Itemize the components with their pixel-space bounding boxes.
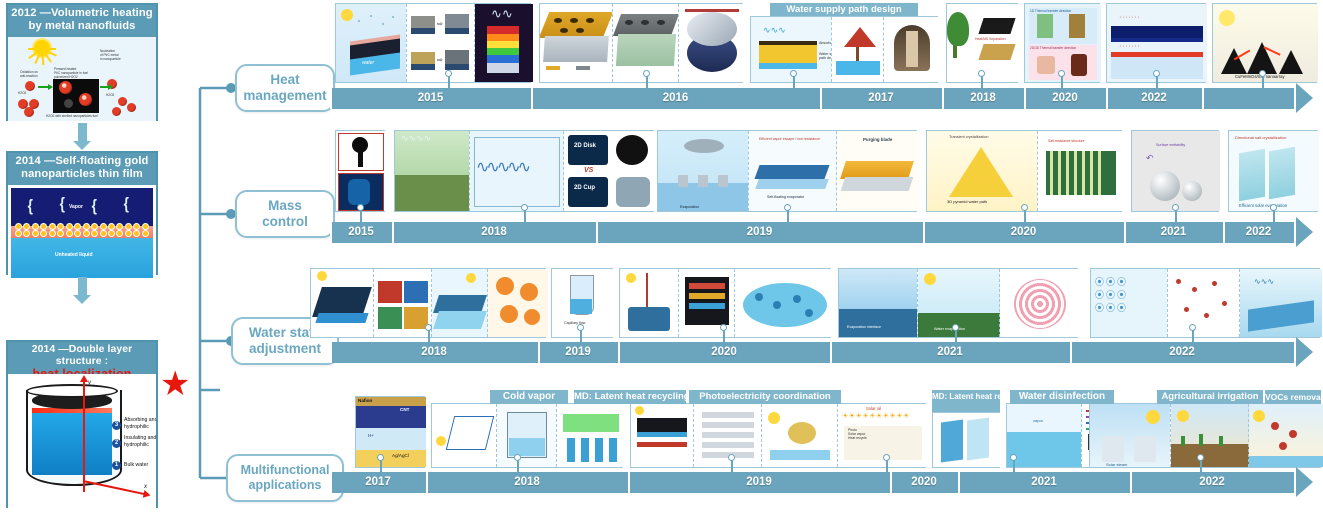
timeline-knob [377, 454, 384, 461]
timeline-year-label: 2020 [1024, 88, 1106, 109]
thumb-image[interactable] [556, 404, 625, 467]
thumb-image[interactable] [883, 17, 940, 82]
row-label-heat-management-line1: Heat [243, 72, 326, 88]
thumb-image[interactable]: Salt-resistance structure [1037, 131, 1124, 211]
thumb-label-3d-path: 3D pyramid water path [947, 199, 987, 204]
milestone-1-label-right: Nucleationof Pt/C metalin nanoparticle [100, 49, 121, 61]
thumb-label-vs: VS [584, 167, 593, 174]
timeline-stem [1273, 210, 1275, 222]
thumb-image[interactable] [540, 4, 612, 82]
timeline-stem [731, 460, 733, 472]
callout-water-disinfection: Water disinfection [1010, 390, 1114, 404]
timeline-year-label: 2019 [596, 222, 923, 243]
thumb-group-2022-mass[interactable]: Directional salt crystallization Efficie… [1228, 130, 1318, 212]
thumb-image[interactable]: vapor [1007, 404, 1081, 467]
connector-arrow-1 [78, 123, 87, 142]
timeline-knob [1259, 70, 1266, 77]
timeline-stem [517, 460, 519, 472]
row-label-multifunctional-line2: applications [241, 478, 330, 493]
wave-curve: ∿∿∿∿∿ [476, 157, 528, 177]
thumb-caption: 1D Thermal transfer direction [1030, 9, 1071, 13]
beaker-diagram: y x [26, 384, 118, 488]
callout-water-supply-path-design: Water supply path design [770, 3, 918, 16]
row-label-water-state-line2: adjustment [249, 341, 321, 357]
callout-vocs-removal: VOCs removal [1265, 390, 1321, 404]
timeline-year-label: 2022 [1130, 472, 1294, 493]
thumb-group-2018-multi[interactable] [431, 403, 623, 468]
timeline-year-label: 2020 [618, 342, 830, 363]
timeline-knob [952, 324, 959, 331]
thumb-image[interactable]: Purging blade [836, 131, 919, 211]
thumb-image[interactable] [1170, 404, 1249, 467]
timeline-knob [1270, 204, 1277, 211]
timeline-stem [787, 210, 789, 222]
timeline-knob [425, 324, 432, 331]
thumb-arrow: ⇨ [437, 56, 443, 64]
thumb-caption: Salt-resistance structure [1048, 139, 1085, 143]
timeline-year-label: 2016 [531, 88, 820, 109]
sun-row-icons: ☀☀☀☀☀☀☀☀☀☀ [842, 412, 910, 420]
timeline-year-label: 2022 [1223, 222, 1294, 243]
timeline-stem [886, 460, 888, 472]
thumb-group-2017-heat[interactable]: ∿∿∿ Absorber Water supplypath design [750, 16, 938, 83]
thumb-image[interactable]: ∿∿∿∿ [395, 131, 469, 211]
thumb-group-2021-mass[interactable]: Surface wettability ↶ [1131, 130, 1219, 212]
row-label-mass-control[interactable]: Mass control [235, 190, 335, 238]
thumb-caption: Evaporation [680, 205, 699, 209]
thumb-caption: Purging blade [863, 137, 892, 142]
thumb-group-2015-mass[interactable] [335, 130, 385, 212]
marker-1: 1 [112, 461, 121, 470]
thumb-label-solar-steam: Solar steam [1106, 462, 1127, 467]
thumb-image[interactable]: Directional salt crystallization Efficie… [1229, 131, 1319, 211]
timeline-stem [955, 330, 957, 342]
timeline-stem [524, 210, 526, 222]
milestone-1-figure: Nucleationof Pt/C metalin nanoparticle O… [8, 37, 156, 121]
timeline-mass-control[interactable]: 2015 2018 2019 2020 2021 2022 [330, 222, 1323, 243]
row-label-heat-management-line2: management [243, 88, 326, 104]
timeline-year-label: 2020 [890, 472, 958, 493]
thumb-group-2015-heat[interactable]: water ⇨ ⇨ ∿∿ [335, 3, 531, 83]
thumb-group-2017-multi[interactable]: Nafion CNT H+ Ag/AgCl [355, 396, 425, 468]
timeline-knob [1189, 324, 1196, 331]
thumb-image[interactable] [336, 131, 386, 211]
milestone-1-label-h2o2-b: H2O2 [106, 93, 114, 97]
thumb-caption: Transient crystallization [949, 135, 989, 139]
milestone-1-label-left: Oxidation onanti-reaction [20, 70, 38, 78]
timeline-stem [1262, 76, 1264, 88]
timeline-year-label: 2020 [923, 222, 1124, 243]
milestone-card-2014-double-layer-heat-localization: 2014 —Double layer structure : heat loca… [6, 340, 158, 508]
thumb-label-salt-cryst: Directional salt crystallization [1235, 135, 1286, 140]
vapor-plume: ∿∿ [491, 6, 513, 22]
timeline-stem [1013, 460, 1015, 472]
timeline-knob [1172, 204, 1179, 211]
thumb-arrow: ⇨ [437, 20, 443, 28]
thumb-image[interactable]: ⇨ ⇨ [406, 4, 475, 82]
timeline-year-label: 2019 [538, 342, 618, 363]
timeline-knob [1153, 70, 1160, 77]
timeline-stem [580, 330, 582, 342]
thumb-image[interactable]: CuFeMnO4/SiC nanoarray [1213, 4, 1318, 82]
thumb-caption: Water evaporation [934, 327, 965, 331]
timeline-knob [720, 324, 727, 331]
vapor-label: vapor [1033, 418, 1043, 423]
timeline-knob [643, 70, 650, 77]
thumb-image[interactable] [1167, 269, 1240, 337]
timeline-water-state-adjustment[interactable]: 2018 2019 2020 2021 2022 [330, 342, 1323, 363]
water-molecules: ⦿⦿⦿⦿⦿⦿⦿⦿⦿ [1095, 275, 1128, 314]
milestone-2-title-line2: nanoparticles thin film [8, 168, 156, 181]
row-label-multifunctional-line1: Multifunctional [241, 463, 330, 478]
timeline-year-label: 2022 [1070, 342, 1294, 363]
milestone-3-item-1-label: Bulk water [124, 462, 148, 469]
timeline-knob [883, 454, 890, 461]
thumb-group-2020-mass[interactable]: Transient crystallization 3D pyramid wat… [926, 130, 1122, 212]
timeline-knob [978, 70, 985, 77]
thumb-image[interactable] [620, 269, 678, 337]
row-label-multifunctional-applications[interactable]: Multifunctional applications [226, 454, 344, 502]
timeline-year-label: 2022 [1106, 88, 1202, 109]
thumb-image[interactable]: Surface wettability ↶ [1132, 131, 1220, 211]
vapor-swirl-icon: { [92, 196, 97, 216]
thumb-caption: Efficient vapor escape / low resistance [759, 137, 820, 141]
timeline-stem [793, 76, 795, 88]
milestone-2-figure: { { { { Vapor Unheated liquid [8, 185, 156, 281]
milestone-3-title-line1: 2014 —Double layer structure : [8, 344, 156, 367]
vapor-arrows: ∿∿∿ [1254, 277, 1274, 286]
thumb-image[interactable]: Nafion CNT H+ Ag/AgCl [356, 397, 426, 467]
thumb-group-2016-heat[interactable] [539, 3, 743, 83]
milestone-card-1-header: 2012 —Volumetric heating by metal nanofl… [8, 5, 156, 37]
timeline-stem [646, 76, 648, 88]
timeline-knob [728, 454, 735, 461]
milestone-1-title-line2: by metal nanofluids [8, 20, 156, 33]
timeline-stem [981, 76, 983, 88]
milestone-3-item-3-label: Absorbing andhydrophilic [124, 417, 156, 430]
milestone-card-2012-volumetric-heating: 2012 —Volumetric heating by metal nanofl… [6, 3, 158, 121]
vapor-arrows: ∿∿∿∿ [401, 133, 431, 144]
thumb-label-water: water [362, 60, 374, 66]
timeline-year-label: 2018 [426, 472, 628, 493]
timeline-knob [1021, 204, 1028, 211]
callout-md-latent-heat-recycling: MD: Latent heat recycling [574, 390, 686, 404]
thumb-group-2022-water[interactable]: ⦿⦿⦿⦿⦿⦿⦿⦿⦿ ∿∿∿ [1090, 268, 1320, 338]
vapor-swirl-icon: { [60, 194, 65, 214]
thumb-label-solar-oil: Solar oil [866, 406, 881, 411]
thumb-caption: Surface wettability [1156, 143, 1185, 147]
timeline-heat-management[interactable]: 2015 2016 2017 2018 2020 2022 [330, 88, 1323, 109]
timeline-year-label: 2017 [330, 472, 426, 493]
thumb-image[interactable] [487, 269, 548, 337]
milestone-3-axis-y-label: y [88, 380, 91, 386]
timeline-knob [521, 204, 528, 211]
timeline-knob [784, 204, 791, 211]
thumb-image[interactable]: Solar steam [1090, 404, 1170, 467]
thumb-image[interactable]: water [336, 4, 406, 82]
thumb-image[interactable] [999, 269, 1080, 337]
timeline-knob [577, 324, 584, 331]
thumb-caption: ↓ ↓ ↓ ↓ ↓ ↓ ↓ [1119, 14, 1140, 19]
row-label-mass-control-line1: Mass [262, 198, 308, 214]
thumb-image[interactable]: ⦿⦿⦿⦿⦿⦿⦿⦿⦿ [1091, 269, 1167, 337]
timeline-stem [1156, 76, 1158, 88]
thumb-image[interactable] [933, 413, 1001, 467]
milestone-3-axis-x-label: x [144, 484, 147, 490]
timeline-knob [357, 204, 364, 211]
milestone-card-2014-gold-nanoparticle-film: 2014 —Self-floating gold nanoparticles t… [6, 151, 158, 275]
timeline-knob [445, 70, 452, 77]
thumb-image[interactable]: ∿∿ [474, 4, 533, 82]
milestone-2-label-vapor: Vapor [69, 204, 83, 210]
timeline-year-label: 2017 [820, 88, 942, 109]
thumb-image[interactable] [631, 404, 693, 467]
thumb-image[interactable] [373, 269, 432, 337]
thumb-group-2020-multi[interactable] [932, 412, 1000, 468]
timeline-knob [1058, 70, 1065, 77]
milestone-3-item-2-label: Insulating andhydrophilic [124, 435, 156, 448]
timeline-stem [428, 330, 430, 342]
thumb-image[interactable]: Evaporation interface [839, 269, 917, 337]
milestone-card-2-header: 2014 —Self-floating gold nanoparticles t… [8, 153, 156, 185]
vapor-swirl-icon: { [124, 194, 129, 214]
timeline-year-label: 2021 [1124, 222, 1223, 243]
thumb-image[interactable]: Evaporation [658, 131, 748, 211]
thumb-label-efficient-evap: Efficient solar evaporation [1239, 203, 1287, 208]
thumb-label-2d-cup: 2D Cup [574, 185, 595, 191]
thumb-caption: ↓ ↓ ↓ ↓ ↓ ↓ ↓ [1119, 43, 1140, 48]
timeline-year-label: 2021 [830, 342, 1070, 363]
thumb-label-agagcl: Ag/AgCl [392, 453, 409, 458]
marker-2: 2 [112, 439, 121, 448]
thumb-image[interactable] [761, 404, 838, 467]
vapor-swirl-icon: { [28, 196, 33, 216]
thumb-caption: Absorber [819, 41, 831, 45]
thumb-image[interactable]: Transient crystallization 3D pyramid wat… [927, 131, 1037, 211]
thumb-caption: 2D/3D Thermal transfer direction [1030, 46, 1076, 50]
thumb-image[interactable] [431, 269, 488, 337]
thumb-label-nafion: Nafion [358, 398, 372, 403]
callout-photoelectricity-coordination: Photoelectricity coordination [689, 390, 841, 404]
timeline-year-label: 2015 [330, 222, 392, 243]
callout-md-latent-heat-recycling-2020: MD: Latent heat recycling [932, 390, 1000, 412]
marker-3: 3 [112, 421, 121, 430]
timeline-knob [514, 454, 521, 461]
milestone-3-figure: y x 3 Absorbing andhydrophilic 2 Insulat… [8, 374, 156, 508]
thumb-image[interactable]: ∿∿∿∿∿ [469, 131, 564, 211]
thumb-image[interactable] [678, 4, 745, 82]
timeline-stem [1192, 330, 1194, 342]
thumb-caption: Heat/MS Separation [975, 37, 1006, 41]
thumb-image[interactable] [311, 269, 373, 337]
timeline-year-label: 2019 [628, 472, 890, 493]
timeline-stem [448, 76, 450, 88]
thumb-image[interactable]: 2D Disk VS 2D Cup [563, 131, 656, 211]
timeline-year-label: 2015 [330, 88, 531, 109]
callout-cold-vapor: Cold vapor [490, 390, 568, 404]
timeline-stem [1175, 210, 1177, 222]
thumb-group-2019-multi[interactable]: Solar oil ☀☀☀☀☀☀☀☀☀☀ PhotoSolar vaporHea… [630, 403, 926, 468]
timeline-year-label: 2018 [942, 88, 1024, 109]
thumb-image[interactable] [1248, 404, 1323, 467]
timeline-multifunctional-applications[interactable]: 2017 2018 2019 2020 2021 2022 [330, 472, 1323, 493]
thumb-image[interactable] [734, 269, 833, 337]
thumb-caption: Self-floating evaporator [767, 195, 804, 199]
milestone-2-title-line1: 2014 —Self-floating gold [8, 155, 156, 168]
milestone-1-label-h2o2-a: H2O2 [18, 91, 26, 95]
timeline-stem [1061, 76, 1063, 88]
milestone-1-label-mid: Pressed heatedPt/C nanoparticle in fuelp… [54, 67, 88, 79]
timeline-knob [790, 70, 797, 77]
timeline-knob [1197, 454, 1204, 461]
thumb-caption: PhotoSolar vaporHeat recycle [848, 428, 867, 440]
milestone-1-title-line1: 2012 —Volumetric heating [8, 7, 156, 20]
row-label-mass-control-line2: control [262, 214, 308, 230]
timeline-stem [1024, 210, 1026, 222]
timeline-year-label: 2018 [330, 342, 538, 363]
thumb-group-2022-multi[interactable]: Solar steam [1089, 403, 1321, 468]
timeline-stem [1200, 460, 1202, 472]
thumb-image[interactable]: Efficient vapor escape / low resistance … [748, 131, 837, 211]
thumb-group-2019-mass[interactable]: Evaporation Efficient vapor escape / low… [657, 130, 917, 212]
timeline-year-label: 2018 [392, 222, 596, 243]
thumb-image[interactable]: ∿∿∿ [1239, 269, 1322, 337]
timeline-stem [360, 210, 362, 222]
milestone-1-label-bottom: H2O2 with shelled nanoparticles fuel [46, 114, 98, 118]
thumb-label-hplus: H+ [368, 433, 374, 438]
timeline-knob [1010, 454, 1017, 461]
thumb-label-cnt: CNT [400, 407, 409, 412]
thumb-image[interactable] [831, 17, 884, 82]
thumb-caption: Water supplypath design [819, 52, 831, 60]
arrow-glyph: ↶ [1146, 153, 1154, 164]
milestone-2-label-liquid: Unheated liquid [55, 252, 93, 258]
thumb-image[interactable] [432, 404, 496, 467]
row-label-heat-management[interactable]: Heat management [235, 64, 335, 112]
vapor-arrows: ∿∿∿ [763, 25, 786, 36]
callout-agricultural-irrigation: Agricultural irrigation [1157, 390, 1263, 404]
thumb-image[interactable] [496, 404, 557, 467]
connector-arrow-2 [78, 277, 87, 296]
timeline-stem [380, 460, 382, 472]
thumb-label-2d-disk: 2D Disk [574, 143, 596, 149]
thumb-group-2018-mass[interactable]: ∿∿∿∿ ∿∿∿∿∿ 2D Disk VS 2D Cup [394, 130, 654, 212]
timeline-stem [723, 330, 725, 342]
timeline-year-label: 2021 [958, 472, 1130, 493]
thumb-caption: Evaporation interface [847, 325, 881, 329]
milestone-card-3-header: 2014 —Double layer structure : heat loca… [8, 342, 156, 374]
